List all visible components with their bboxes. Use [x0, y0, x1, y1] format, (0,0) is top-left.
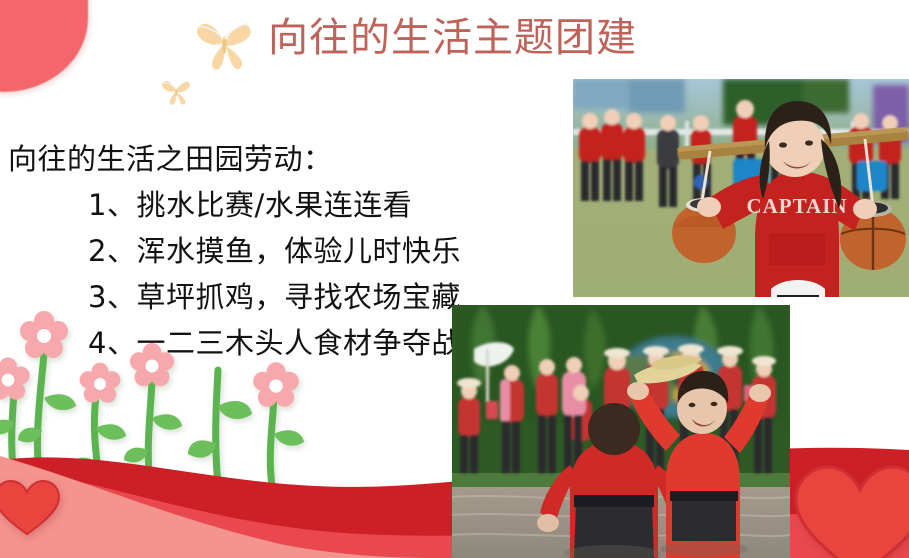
- body-text-block: 向往的生活之田园劳动： 1、挑水比赛/水果连连看 2、浑水摸鱼，体验儿时快乐 3…: [8, 136, 478, 366]
- heart-icon-left: [0, 478, 60, 538]
- slide-title: 向往的生活主题团建: [268, 11, 637, 65]
- svg-text:CAPTAIN: CAPTAIN: [746, 194, 847, 218]
- photo-water-carrying: CAPTAIN: [573, 79, 909, 297]
- corner-blob-decoration: [0, 0, 88, 92]
- slide-canvas: 向往的生活主题团建 向往的生活之田园劳动： 1、挑水比赛/水果连连看 2、浑水摸…: [0, 0, 909, 558]
- heart-icon-right: [793, 462, 909, 558]
- body-list-item-3: 3、草坪抓鸡，寻找农场宝藏: [88, 274, 478, 320]
- body-lead-line: 向往的生活之田园劳动：: [8, 136, 478, 182]
- body-list-item-4: 4、一二三木头人食材争夺战: [88, 320, 478, 366]
- butterfly-icon-small: [160, 78, 190, 105]
- butterfly-icon-large: [193, 18, 251, 70]
- body-list-item-2: 2、浑水摸鱼，体验儿时快乐: [88, 228, 478, 274]
- photo-muddy-fishing: [452, 305, 790, 558]
- body-list-item-1: 1、挑水比赛/水果连连看: [88, 182, 478, 228]
